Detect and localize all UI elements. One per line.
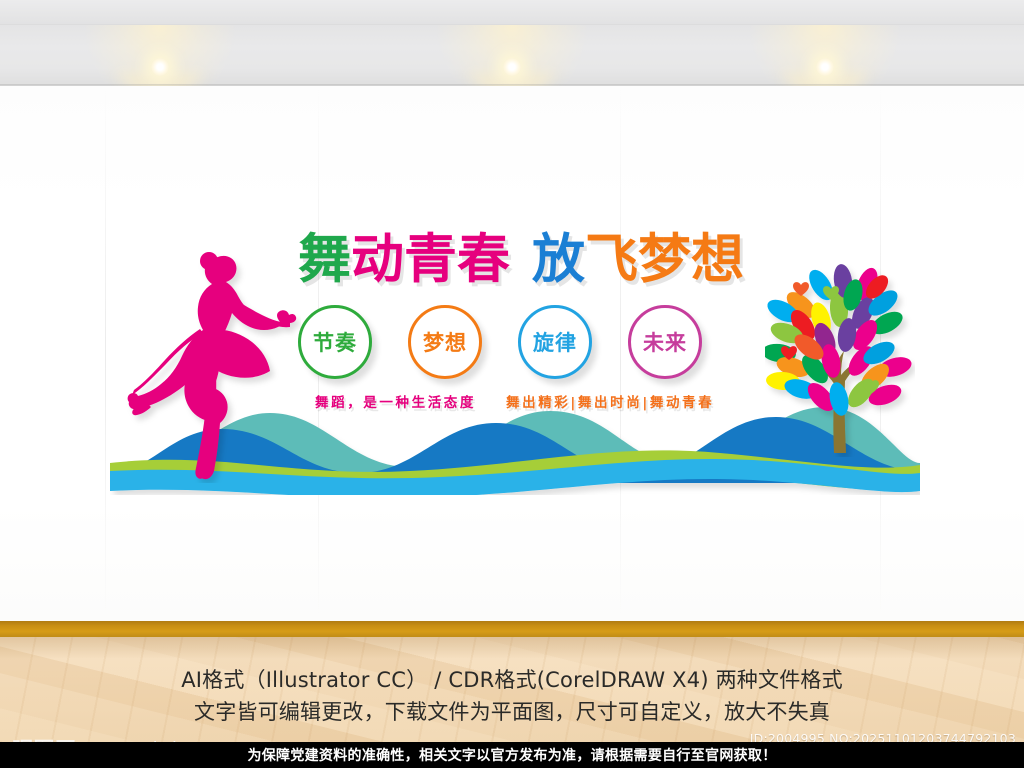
title-char-7: 梦	[638, 233, 691, 286]
keyword-circle-label: 未来	[643, 327, 687, 357]
ceiling-spotlight-2	[503, 58, 521, 76]
wall-art-graphic: 舞 动 青 春 放 飞 梦 想 节奏 梦想 旋律 未来	[110, 215, 920, 495]
subtitle-spacer	[476, 391, 506, 411]
title-char-5: 放	[532, 233, 585, 286]
keyword-circle-jiezou[interactable]: 节奏	[298, 305, 372, 379]
ballet-dancer-silhouette	[126, 243, 301, 483]
title-char-3: 青	[404, 233, 457, 286]
title-char-6: 飞	[585, 233, 638, 286]
ceiling-spotlight-3	[816, 58, 834, 76]
subtitle-slogan-right: 舞出精彩|舞出时尚|舞动青春	[506, 391, 714, 411]
bottom-notice-text: 为保障党建资料的准确性，相关文字以官方发布为准，请根据需要自行至官网获取！	[247, 745, 776, 765]
footer-caption-block: AI格式（Illustrator CC） / CDR格式(CorelDRAW X…	[0, 664, 1024, 728]
floor-skirting-edge	[0, 621, 1024, 637]
keyword-circle-row: 节奏 梦想 旋律 未来	[298, 305, 702, 379]
bottom-notice-banner: 为保障党建资料的准确性，相关文字以官方发布为准，请根据需要自行至官网获取！	[0, 742, 1024, 768]
ceiling-spotlight-1	[151, 58, 169, 76]
subtitle-row: 舞蹈，是一种生活态度 舞出精彩|舞出时尚|舞动青春	[315, 391, 714, 411]
keyword-circle-label: 梦想	[423, 327, 467, 357]
floor-top-shading	[0, 637, 1024, 659]
headline-title: 舞 动 青 春 放 飞 梦 想	[298, 233, 744, 286]
keyword-circle-label: 旋律	[533, 327, 577, 357]
keyword-circle-mengxiang[interactable]: 梦想	[408, 305, 482, 379]
keyword-circle-weilai[interactable]: 未来	[628, 305, 702, 379]
title-char-1: 舞	[298, 233, 351, 286]
keyword-circle-xuanlv[interactable]: 旋律	[518, 305, 592, 379]
title-char-2: 动	[351, 233, 404, 286]
wall-mockup-scene: 舞 动 青 春 放 飞 梦 想 节奏 梦想 旋律 未来	[0, 0, 1024, 768]
subtitle-slogan-left: 舞蹈，是一种生活态度	[315, 391, 476, 411]
title-char-4: 春	[457, 233, 510, 286]
footer-caption-line-2: 文字皆可编辑更改，下载文件为平面图，尺寸可自定义，放大不失真	[0, 696, 1024, 728]
colorful-leaf-tree	[765, 257, 915, 457]
keyword-circle-label: 节奏	[313, 327, 357, 357]
title-char-8: 想	[691, 233, 744, 286]
ceiling-light-band	[0, 24, 1024, 87]
footer-caption-line-1: AI格式（Illustrator CC） / CDR格式(CorelDRAW X…	[0, 664, 1024, 696]
ceiling-upper-panel	[0, 0, 1024, 24]
